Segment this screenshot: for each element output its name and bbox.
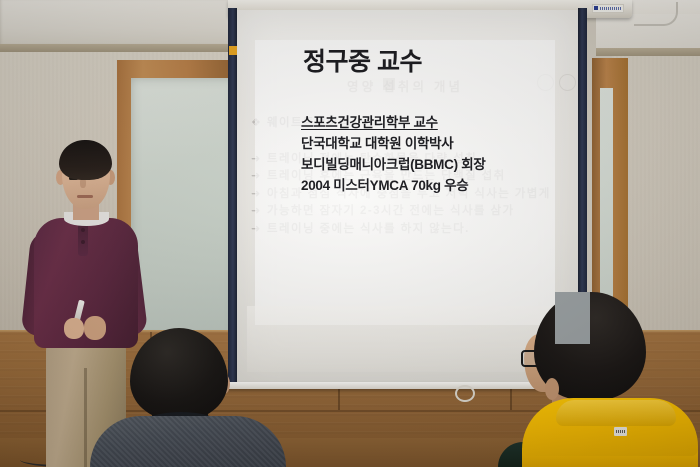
presenter-mouth [77,195,93,198]
student-foreground-left [90,328,290,467]
soffit-lip-right [596,48,700,56]
presenter-hair [59,140,112,180]
student-sweater-texture [90,416,286,467]
credential-line: 2004 미스터YMCA 70kg 우승 [301,175,485,196]
slide-presenter-name: 정구중 교수 [303,42,422,78]
credential-line: 스포츠건강관리학부 교수 [301,112,485,133]
credential-line: 보디빌딩매니아크럽(BBMC) 회장 [301,154,485,175]
screen-power-cable [634,2,678,26]
slide-credentials-list: 스포츠건강관리학부 교수 단국대학교 대학원 이학박사 보디빌딩매니아크럽(BB… [301,112,485,196]
screen-brand-logo [592,4,624,13]
presenter-leg-seam [84,368,87,467]
presenter-hand [64,318,84,339]
screen-pull-ring [455,385,475,402]
ceiling-soffit-left [0,0,232,48]
hoodie-fold [556,400,676,426]
screen-edge-tab [229,46,237,55]
face-mosaic-block [555,292,590,344]
lecture-room-photo: 영양 섭취의 개념 ❖웨이트트레이닝시 ➜트레이닝 전에는 탄수화물을 다량 섭… [0,0,700,467]
student-foreground-right [498,292,700,467]
student-ear [545,378,559,400]
hoodie-brand-tag [614,427,627,436]
student-hair [130,328,228,420]
credential-line: 단국대학교 대학원 이학박사 [301,133,485,154]
